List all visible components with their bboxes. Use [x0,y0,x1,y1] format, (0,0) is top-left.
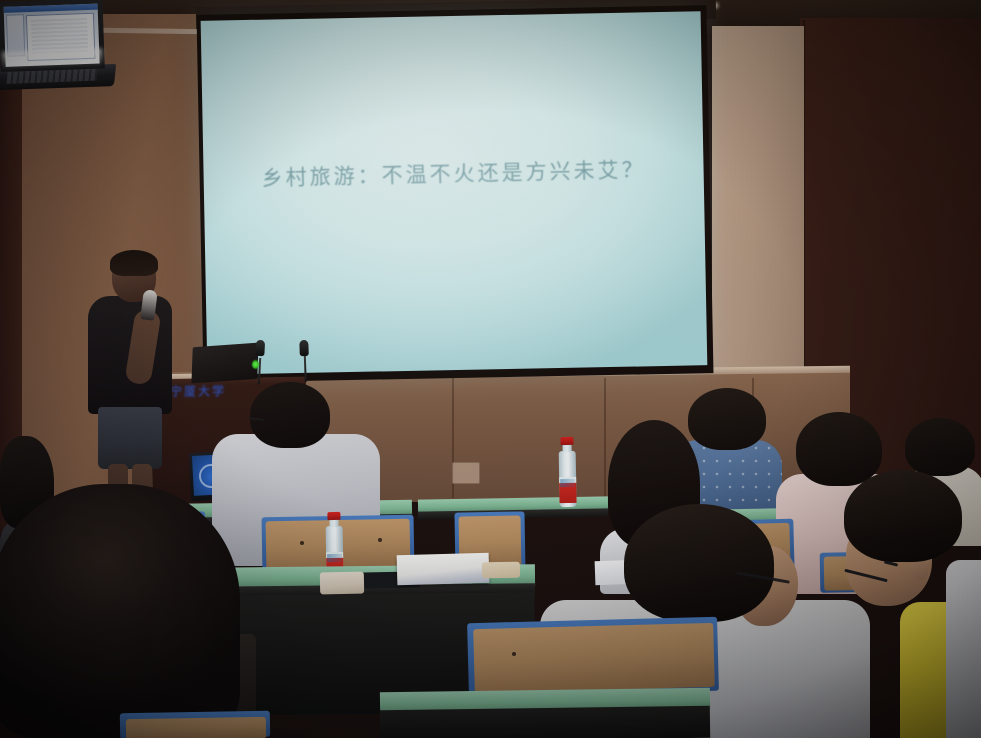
student-cream-shirt [946,560,981,738]
slide-title-text: 乡村旅游：不温不火还是方兴未艾？ [203,152,704,193]
microphone-status-led [252,360,259,369]
microphone-head [255,340,265,356]
notebook [397,553,490,585]
projection-screen-surface: 乡村旅游：不温不火还是方兴未艾？ [201,11,708,375]
person-hair [0,484,240,738]
screen-glare [2,48,103,69]
open-laptop [0,0,118,94]
tissue-pack [482,562,520,579]
person-hair [844,470,962,562]
gooseneck-microphone-right [297,340,312,382]
projection-screen: 乡村旅游：不温不火还是方兴未艾？ [197,5,714,383]
bottle-label-graphic [327,554,342,562]
window-title-bar [4,4,98,13]
chair-rivet [378,538,382,542]
chair-back [473,623,715,693]
chair-back [126,717,266,738]
speaker-shorts [98,407,162,469]
bottle-cap [327,512,340,520]
microphone-head [299,340,309,356]
bottle-label-graphic [560,479,575,487]
student-hair [250,382,330,448]
person-hair [624,504,774,622]
water-bottle [557,437,577,503]
speaker-hair [110,250,158,276]
desk-front-panel [380,706,710,738]
chair-rivet [300,541,304,545]
microphone-stalk [304,356,307,382]
presenter-laptop [191,343,258,384]
bottle-neck [329,519,338,527]
foreground-long-hair [0,484,240,738]
lecture-hall-photo: 乡村旅游：不温不火还是方兴未艾？ 宁厦大学 [0,0,981,738]
bottle-neck [563,444,572,452]
bottle-cap [560,437,573,445]
wall-power-outlet [452,462,480,484]
tissue-pack [320,572,364,595]
chair-rivet [512,652,516,656]
student-hair [905,418,975,476]
